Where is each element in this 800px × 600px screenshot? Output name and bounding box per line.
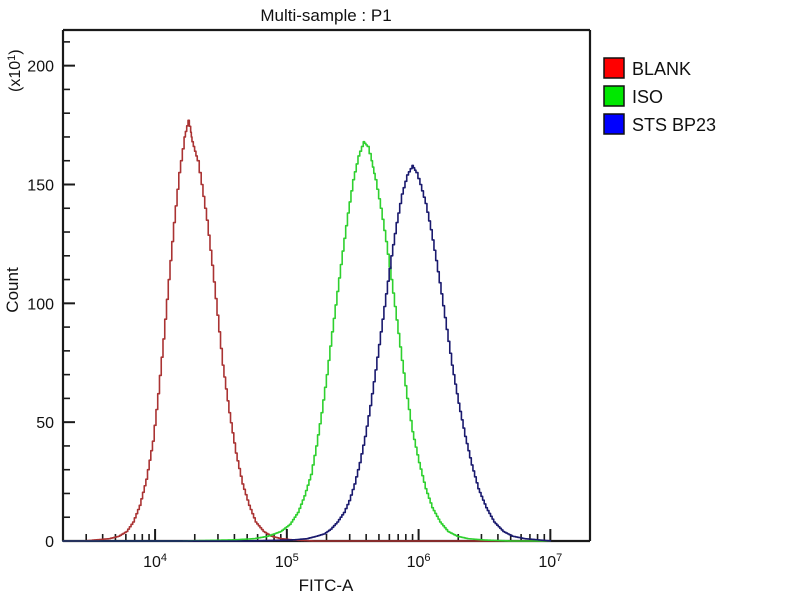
- legend-swatch: [604, 58, 624, 78]
- legend-swatch: [604, 86, 624, 106]
- legend-swatch: [604, 114, 624, 134]
- y-tick-label: 150: [27, 177, 54, 194]
- x-tick-base: 10: [275, 554, 293, 571]
- x-tick-exponent: 4: [161, 552, 167, 564]
- y-axis-title: Count: [3, 267, 22, 313]
- x-tick-base: 10: [538, 554, 556, 571]
- y-tick-label: 50: [36, 415, 54, 432]
- x-tick-exponent: 7: [556, 552, 562, 564]
- legend-label: BLANK: [632, 59, 691, 79]
- x-tick-exponent: 5: [293, 552, 299, 564]
- chart-title: Multi-sample : P1: [260, 6, 391, 25]
- x-tick-base: 10: [143, 554, 161, 571]
- x-tick-exponent: 6: [424, 552, 430, 564]
- y-multiplier-close: ): [7, 49, 24, 54]
- legend-item-blank[interactable]: BLANK: [604, 58, 691, 79]
- canvas-background: [0, 0, 800, 600]
- legend-item-sts-bp23[interactable]: STS BP23: [604, 114, 716, 135]
- x-axis-title: FITC-A: [299, 576, 354, 595]
- x-tick-base: 10: [407, 554, 425, 571]
- y-multiplier-base: (x10: [7, 61, 24, 92]
- legend-label: ISO: [632, 87, 663, 107]
- legend-label: STS BP23: [632, 115, 716, 135]
- y-tick-label: 0: [45, 534, 54, 551]
- flow-cytometry-histogram: Multi-sample : P1 050100150200 104105106…: [0, 0, 800, 600]
- legend-item-iso[interactable]: ISO: [604, 86, 663, 107]
- y-tick-label: 100: [27, 296, 54, 313]
- y-tick-label: 200: [27, 59, 54, 76]
- histogram-svg: Multi-sample : P1 050100150200 104105106…: [0, 0, 800, 600]
